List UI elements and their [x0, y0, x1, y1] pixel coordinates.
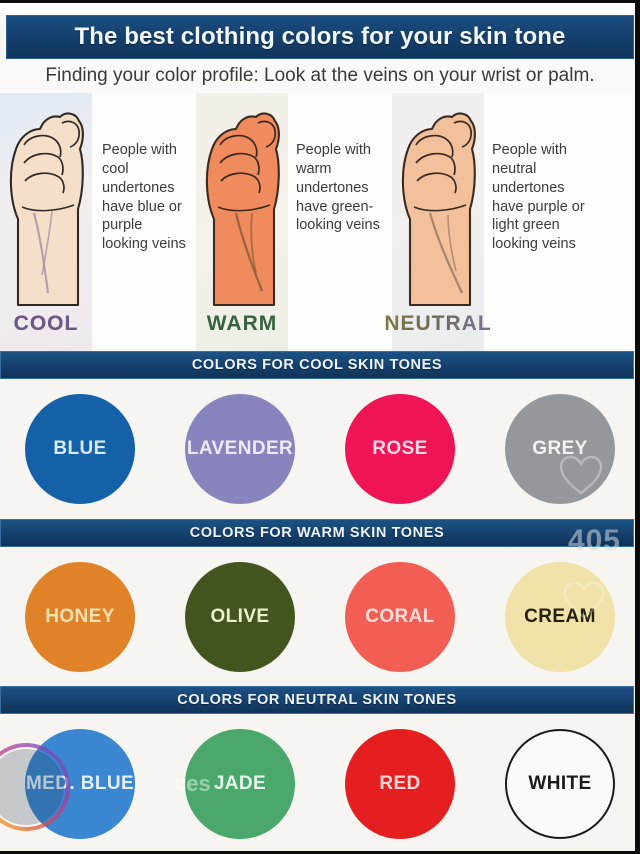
band-label-warm: COLORS FOR WARM SKIN TONES	[190, 525, 445, 541]
color-swatch-grey[interactable]: GREY	[505, 394, 615, 504]
undertone-panel-neutral: NEUTRAL	[392, 93, 484, 351]
color-swatch-jade[interactable]: JADE	[185, 729, 295, 839]
swatch-row-neutral: MED. BLUE ces JADE RED WHITE	[0, 714, 640, 854]
undertone-description-warm: People with warm undertones have green-l…	[288, 93, 392, 351]
swatch-cell[interactable]: WHITE	[480, 729, 640, 839]
color-swatch-med-blue[interactable]: MED. BLUE	[25, 729, 135, 839]
swatch-label: GREY	[532, 438, 587, 460]
color-swatch-red[interactable]: RED	[345, 729, 455, 839]
swatch-cell[interactable]: RED	[320, 729, 480, 839]
color-swatch-honey[interactable]: HONEY	[25, 562, 135, 672]
undertone-label-neutral: NEUTRAL	[384, 313, 491, 334]
infographic-page: The best clothing colors for your skin t…	[0, 0, 640, 854]
swatch-cell[interactable]: GREY	[480, 394, 640, 504]
swatch-label: OLIVE	[210, 606, 269, 628]
swatch-cell[interactable]: BLUE	[0, 394, 160, 504]
fist-illustration-cool	[0, 93, 92, 311]
fist-illustration-warm	[196, 93, 288, 311]
swatch-cell[interactable]: CREAM	[480, 562, 640, 672]
frame-edge-top	[0, 0, 640, 3]
swatch-label: CORAL	[365, 606, 435, 628]
swatch-label: JADE	[214, 773, 266, 795]
swatch-label: CREAM	[524, 606, 596, 628]
swatch-cell[interactable]: OLIVE	[160, 562, 320, 672]
undertone-description-neutral: People with neutral undertones have purp…	[484, 93, 594, 351]
swatch-cell[interactable]: HONEY	[0, 562, 160, 672]
swatch-cell[interactable]: MED. BLUE	[0, 729, 160, 839]
swatch-row-warm: HONEY OLIVE CORAL CREAM	[0, 547, 640, 687]
swatch-row-cool: BLUE LAVENDER ROSE GREY	[0, 379, 640, 519]
undertone-label-warm: WARM	[207, 313, 278, 334]
page-title: The best clothing colors for your skin t…	[74, 23, 565, 51]
band-cool-colors: COLORS FOR COOL SKIN TONES	[0, 351, 634, 379]
color-swatch-lavender[interactable]: LAVENDER	[185, 394, 295, 504]
swatch-cell[interactable]: CORAL	[320, 562, 480, 672]
swatch-label: ROSE	[372, 438, 427, 460]
undertone-panel-warm: WARM	[196, 93, 288, 351]
color-swatch-white[interactable]: WHITE	[505, 729, 615, 839]
swatch-label: HONEY	[45, 606, 115, 628]
swatch-label: WHITE	[528, 773, 591, 795]
swatch-label: LAVENDER	[187, 438, 293, 460]
swatch-cell[interactable]: LAVENDER	[160, 394, 320, 504]
subtitle-text: Finding your color profile: Look at the …	[0, 59, 640, 93]
undertone-label-cool: COOL	[14, 313, 79, 334]
undertone-description-cool: People with cool undertones have blue or…	[92, 93, 196, 351]
swatch-label: MED. BLUE	[26, 773, 134, 795]
color-swatch-cream[interactable]: CREAM	[505, 562, 615, 672]
band-neutral-colors: COLORS FOR NEUTRAL SKIN TONES	[0, 686, 634, 714]
band-warm-colors: COLORS FOR WARM SKIN TONES 405	[0, 519, 634, 547]
swatch-cell[interactable]: ROSE	[320, 394, 480, 504]
band-label-neutral: COLORS FOR NEUTRAL SKIN TONES	[177, 692, 457, 708]
color-swatch-rose[interactable]: ROSE	[345, 394, 455, 504]
fist-illustration-neutral	[392, 93, 484, 311]
color-swatch-olive[interactable]: OLIVE	[185, 562, 295, 672]
undertone-panels: COOL People with cool undertones have bl…	[0, 93, 640, 351]
band-label-cool: COLORS FOR COOL SKIN TONES	[192, 357, 442, 373]
undertone-panel-cool: COOL	[0, 93, 92, 351]
frame-edge-right	[635, 0, 640, 854]
color-swatch-coral[interactable]: CORAL	[345, 562, 455, 672]
title-bar: The best clothing colors for your skin t…	[6, 15, 634, 59]
color-swatch-blue[interactable]: BLUE	[25, 394, 135, 504]
swatch-label: RED	[379, 773, 420, 795]
swatch-cell[interactable]: ces JADE	[160, 729, 320, 839]
swatch-label: BLUE	[53, 438, 106, 460]
